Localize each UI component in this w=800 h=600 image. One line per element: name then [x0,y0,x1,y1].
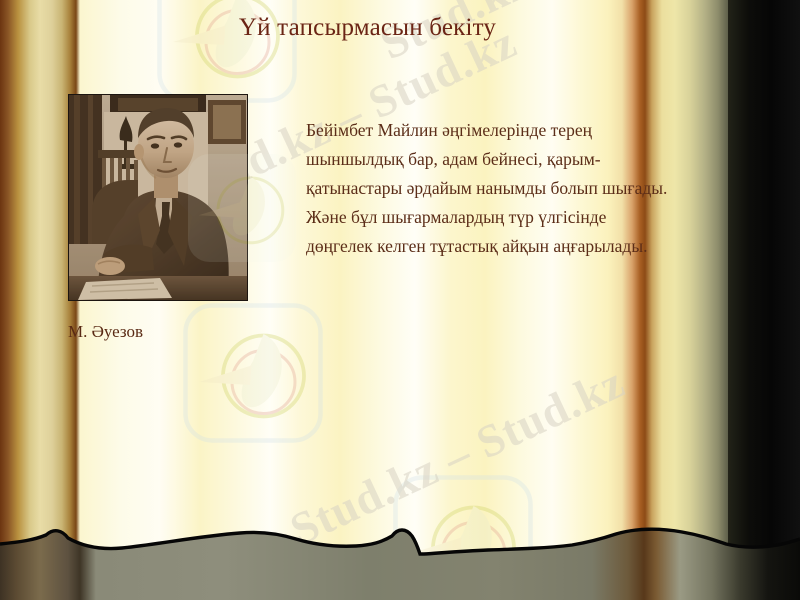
body-text-block: Бейімбет Майлин әңгімелерінде терең шынш… [306,116,674,261]
portrait-photo [68,94,248,301]
torn-bottom-edge [0,520,800,600]
body-paragraph: Бейімбет Майлин әңгімелерінде терең шынш… [306,116,674,261]
page-title: Үй тапсырмасын бекіту [0,14,735,42]
slide-canvas: Stud.kz – Stud.kz Stud.kz – Stud.kz Stud… [0,0,800,600]
right-dark-panel [728,0,800,600]
portrait-photo-image [68,94,248,301]
photo-caption: М. Әуезов [68,322,268,342]
